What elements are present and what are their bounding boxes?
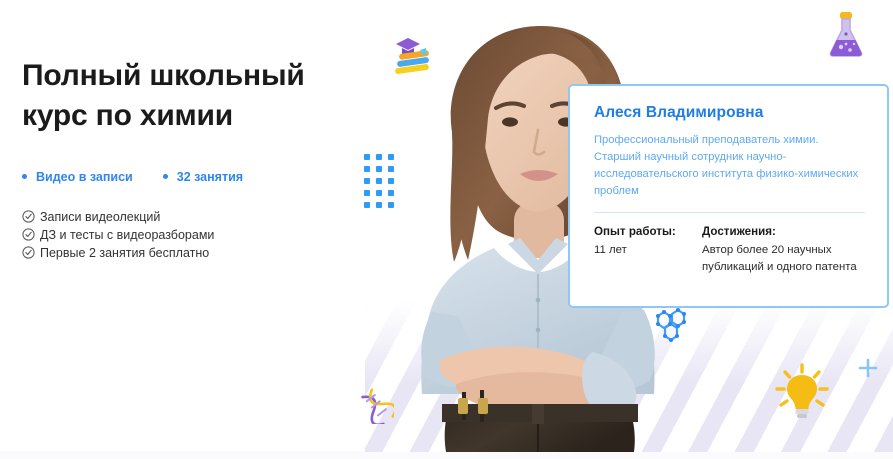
- checklist-label: Записи видеолекций: [40, 210, 160, 224]
- molecule-icon: [648, 308, 694, 348]
- checklist-label: ДЗ и тесты с видеоразборами: [40, 228, 214, 242]
- achievements-value: Автор более 20 научных публикаций и одно…: [702, 242, 865, 276]
- instructor-name: Алеся Владимировна: [594, 104, 865, 122]
- page-title: Полный школьный курс по химии: [22, 56, 362, 136]
- achievements-block: Достижения: Автор более 20 научных публи…: [702, 225, 865, 276]
- tag-label: Видео в записи: [36, 170, 133, 184]
- dna-helix-icon: [360, 388, 394, 424]
- experience-block: Опыт работы: 11 лет: [594, 225, 686, 276]
- checklist-label: Первые 2 занятия бесплатно: [40, 246, 209, 260]
- tag-row: Видео в записи 32 занятия: [22, 170, 362, 184]
- list-item: Первые 2 занятия бесплатно: [22, 246, 362, 260]
- bullet-dot-icon: [163, 174, 168, 179]
- card-divider: [594, 212, 865, 213]
- dot-grid-icon: [362, 152, 396, 212]
- check-circle-icon: [22, 228, 35, 241]
- instructor-details: Опыт работы: 11 лет Достижения: Автор бо…: [594, 225, 865, 276]
- achievements-label: Достижения:: [702, 225, 865, 238]
- books-graduation-cap-icon: [386, 30, 442, 80]
- bottom-strip: [0, 451, 893, 459]
- experience-label: Опыт работы:: [594, 225, 686, 238]
- list-item: ДЗ и тесты с видеоразборами: [22, 228, 362, 242]
- bullet-dot-icon: [22, 174, 27, 179]
- tag-video-recordings: Видео в записи: [22, 170, 133, 184]
- chemistry-flask-icon: [823, 6, 869, 62]
- experience-value: 11 лет: [594, 242, 686, 259]
- promo-text-column: Полный школьный курс по химии Видео в за…: [22, 56, 362, 260]
- course-promo-banner: Полный школьный курс по химии Видео в за…: [0, 0, 893, 459]
- tag-lesson-count: 32 занятия: [163, 170, 243, 184]
- check-circle-icon: [22, 210, 35, 223]
- lightbulb-icon: [772, 361, 832, 423]
- instructor-card: Алеся Владимировна Профессиональный преп…: [568, 84, 889, 308]
- feature-checklist: Записи видеолекций ДЗ и тесты с видеораз…: [22, 210, 362, 260]
- tag-label: 32 занятия: [177, 170, 243, 184]
- instructor-description: Профессиональный преподаватель химии. Ст…: [594, 132, 865, 200]
- check-circle-icon: [22, 246, 35, 259]
- list-item: Записи видеолекций: [22, 210, 362, 224]
- plus-sparkle-icon: [858, 358, 878, 378]
